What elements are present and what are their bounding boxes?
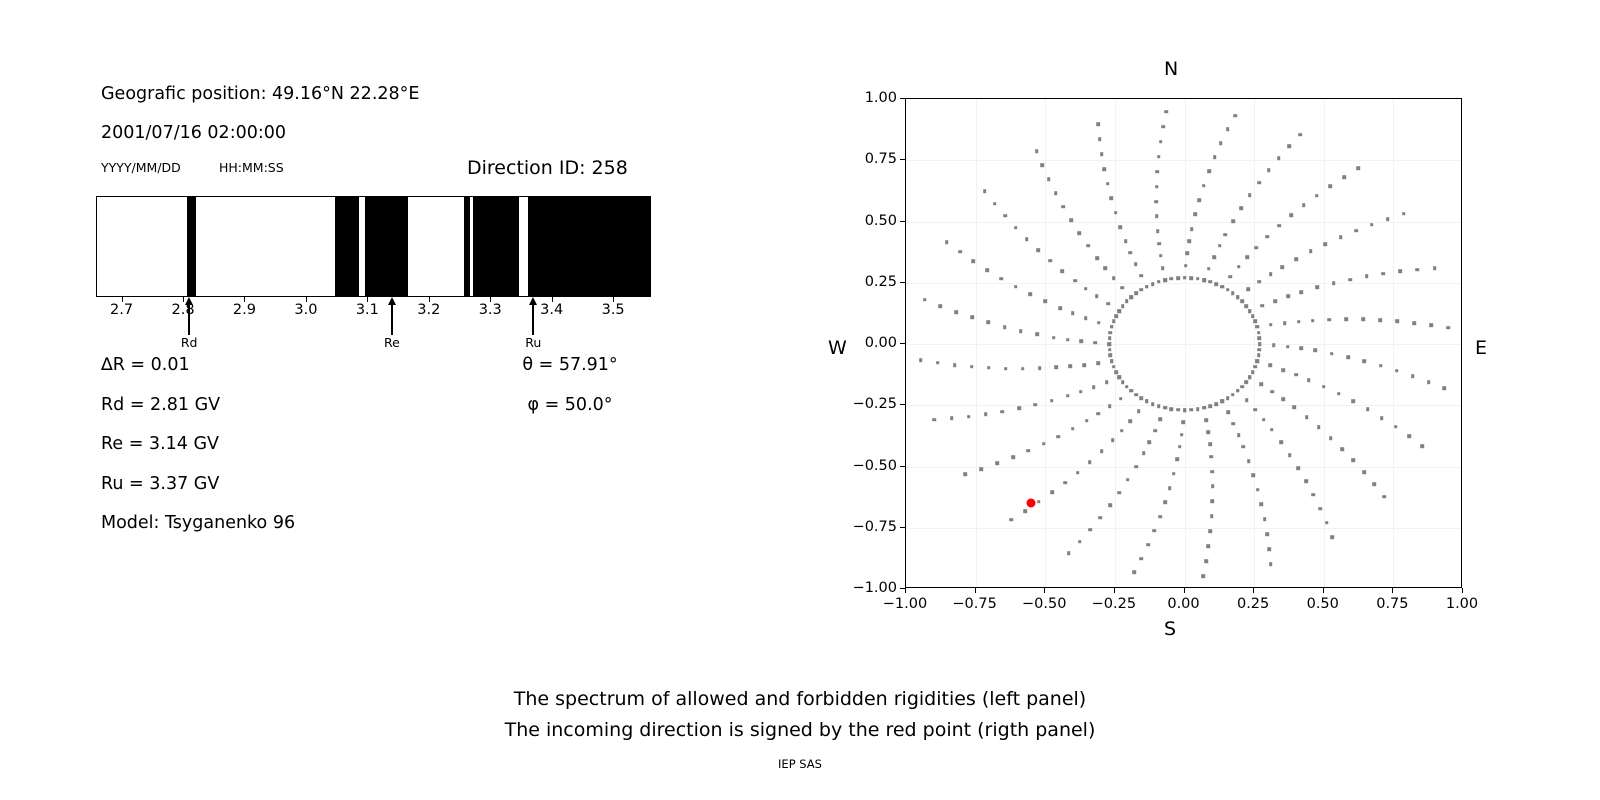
- direction-grid-point: [1396, 320, 1400, 324]
- direction-grid-point: [1261, 304, 1265, 308]
- direction-grid-point: [1248, 194, 1252, 198]
- rigidity-tick-label: 3.2: [417, 302, 440, 318]
- direction-map-panel: N E S W −1.00−0.75−0.50−0.250.000.250.50…: [820, 40, 1520, 660]
- direction-grid-point: [1176, 276, 1180, 280]
- direction-grid-point: [1157, 242, 1161, 246]
- direction-grid-point: [1175, 457, 1179, 461]
- direction-grid-point: [1263, 517, 1267, 521]
- direction-grid-point: [1003, 214, 1007, 218]
- direction-grid-point: [945, 240, 949, 244]
- y-axis-tick-label: −0.75: [841, 519, 897, 535]
- direction-grid-point: [1257, 331, 1261, 335]
- direction-grid-point: [1362, 470, 1366, 474]
- direction-grid-point: [1208, 280, 1212, 284]
- direction-grid-point: [1302, 203, 1306, 207]
- param-delta-r: ∆R = 0.01: [101, 355, 190, 375]
- direction-grid-point: [1117, 491, 1121, 495]
- direction-grid-point: [1161, 125, 1165, 129]
- gridline-horizontal: [906, 160, 1461, 161]
- direction-grid-point: [1218, 244, 1222, 248]
- compass-south-label: S: [1164, 618, 1176, 640]
- direction-grid-point: [1280, 266, 1284, 270]
- y-axis-tick-label: −0.50: [841, 458, 897, 474]
- direction-grid-point: [1082, 363, 1086, 367]
- gridline-vertical: [1393, 99, 1394, 587]
- forbidden-band: [464, 197, 470, 296]
- direction-grid-point: [1399, 270, 1403, 274]
- direction-grid-point: [1362, 318, 1366, 322]
- direction-grid-point: [1394, 425, 1398, 429]
- direction-grid-point: [1066, 338, 1070, 342]
- direction-grid-point: [1079, 390, 1083, 394]
- direction-grid-point: [1110, 359, 1114, 363]
- direction-grid-point: [1258, 280, 1262, 284]
- direction-grid-point: [1119, 397, 1123, 401]
- direction-grid-point: [1226, 288, 1230, 292]
- direction-grid-point: [1208, 404, 1212, 408]
- direction-grid-point: [1066, 394, 1070, 398]
- direction-grid-point: [1092, 385, 1096, 389]
- direction-grid-point: [1011, 456, 1015, 460]
- direction-grid-point: [933, 418, 937, 422]
- direction-grid-point: [1316, 286, 1320, 290]
- direction-grid-point: [1213, 155, 1217, 159]
- x-axis-tick: [975, 588, 976, 593]
- direction-grid-point: [1017, 407, 1021, 411]
- direction-grid-point: [1214, 282, 1218, 286]
- caption-line-2: The incoming direction is signed by the …: [0, 719, 1600, 741]
- direction-grid-point: [1028, 292, 1032, 296]
- direction-grid-point: [1210, 515, 1214, 519]
- direction-grid-point: [1097, 122, 1101, 126]
- direction-grid-point: [1286, 295, 1290, 299]
- gridline-vertical: [1115, 99, 1116, 587]
- gridline-horizontal: [906, 467, 1461, 468]
- direction-grid-point: [1156, 229, 1160, 233]
- direction-grid-point: [1134, 292, 1138, 296]
- direction-grid-point: [1108, 348, 1112, 352]
- direction-grid-point: [1111, 439, 1115, 443]
- direction-grid-point: [1061, 269, 1065, 273]
- direction-grid-point: [1207, 430, 1211, 434]
- rigidity-tick-label: 3.3: [479, 302, 502, 318]
- rigidity-tick-label: 3.4: [540, 302, 563, 318]
- direction-grid-point: [1269, 273, 1273, 277]
- direction-grid-point: [1231, 292, 1235, 296]
- direction-grid-point: [1108, 342, 1112, 346]
- rigidity-tick-label: 2.7: [110, 302, 133, 318]
- direction-grid-point: [1157, 404, 1161, 408]
- rigidity-marker-arrowhead: [185, 297, 193, 305]
- direction-grid-point: [1296, 466, 1300, 470]
- direction-grid-point: [1430, 323, 1434, 327]
- direction-grid-point: [1061, 205, 1065, 209]
- direction-grid-point: [1331, 535, 1335, 539]
- direction-grid-point: [1076, 471, 1080, 475]
- direction-grid-point: [1288, 145, 1292, 149]
- direction-grid-point: [1269, 562, 1273, 566]
- y-axis-tick-label: −0.25: [841, 396, 897, 412]
- x-axis-tick: [1114, 588, 1115, 593]
- direction-grid-point: [1286, 345, 1290, 349]
- direction-grid-point: [1115, 314, 1119, 318]
- direction-grid-point: [1159, 254, 1163, 258]
- param-theta: θ = 57.91°: [522, 355, 617, 375]
- param-phi: φ = 50.0°: [527, 395, 612, 415]
- direction-grid-point: [1151, 402, 1155, 406]
- direction-grid-point: [1259, 382, 1263, 386]
- direction-grid-point: [1163, 406, 1167, 410]
- direction-grid-point: [1105, 380, 1109, 384]
- gridline-horizontal: [906, 222, 1461, 223]
- direction-grid-point: [1153, 529, 1157, 533]
- y-axis-tick: [900, 98, 905, 99]
- datetime-label: 2001/07/16 02:00:00: [101, 123, 286, 143]
- direction-grid-point: [1247, 288, 1251, 292]
- direction-grid-point: [1104, 266, 1108, 270]
- direction-grid-point: [1158, 418, 1162, 422]
- rigidity-tick-label: 2.9: [233, 302, 256, 318]
- direction-grid-point: [1209, 529, 1213, 533]
- direction-grid-point: [1170, 407, 1174, 411]
- spectrum-bar-container: [96, 196, 651, 297]
- rigidity-marker-arrowhead: [388, 297, 396, 305]
- direction-grid-point: [1139, 274, 1143, 278]
- direction-grid-point: [1096, 361, 1100, 365]
- direction-grid-point: [1237, 265, 1241, 269]
- direction-grid-point: [1269, 323, 1273, 327]
- direction-grid-point: [993, 202, 997, 206]
- direction-grid-point: [1370, 223, 1374, 227]
- gridline-horizontal: [906, 528, 1461, 529]
- gridline-vertical: [976, 99, 977, 587]
- direction-grid-point: [1258, 348, 1262, 352]
- x-axis-tick: [1184, 588, 1185, 593]
- direction-grid-point: [939, 304, 943, 308]
- direction-grid-point: [1194, 213, 1198, 217]
- direction-grid-point: [1157, 280, 1161, 284]
- direction-grid-point: [1372, 482, 1376, 486]
- direction-grid-point: [1001, 410, 1005, 414]
- direction-grid-point: [919, 358, 923, 362]
- direction-grid-point: [1035, 333, 1039, 337]
- direction-grid-point: [1047, 178, 1051, 182]
- direction-grid-point: [1277, 157, 1281, 161]
- rigidity-tick-label: 3.1: [356, 302, 379, 318]
- direction-grid-point: [1224, 233, 1228, 237]
- y-axis-tick-label: 0.25: [841, 274, 897, 290]
- direction-grid-point: [1380, 416, 1384, 420]
- direction-grid-point: [1365, 275, 1369, 279]
- direction-grid-point: [1069, 218, 1073, 222]
- direction-grid-point: [1019, 329, 1023, 333]
- direction-grid-point: [1322, 385, 1326, 389]
- rigidity-marker-label: Re: [384, 335, 400, 350]
- direction-grid-point: [1038, 367, 1042, 371]
- direction-grid-point: [936, 361, 940, 365]
- x-axis-tick-label: −0.25: [1092, 596, 1136, 612]
- direction-grid-point: [1270, 390, 1274, 394]
- direction-grid-point: [1266, 235, 1270, 239]
- direction-grid-point: [970, 316, 974, 320]
- rigidity-marker-arrowhead: [529, 297, 537, 305]
- direction-grid-point: [1300, 347, 1304, 351]
- direction-grid-point: [1300, 290, 1304, 294]
- direction-grid-point: [1158, 515, 1162, 519]
- direction-grid-point: [1035, 149, 1039, 153]
- direction-grid-point: [1226, 396, 1230, 400]
- direction-grid-point: [1164, 110, 1168, 114]
- direction-grid-point: [1109, 331, 1113, 335]
- direction-grid-point: [1108, 503, 1112, 507]
- direction-grid-point: [1214, 402, 1218, 406]
- gridline-horizontal: [906, 405, 1461, 406]
- direction-grid-point: [1078, 540, 1082, 544]
- direction-grid-point: [1309, 250, 1313, 254]
- x-axis-tick-label: −0.75: [952, 596, 996, 612]
- x-axis-tick-label: 0.00: [1167, 596, 1199, 612]
- direction-grid-point: [1000, 277, 1004, 281]
- direction-grid-point: [1304, 479, 1308, 483]
- direction-grid-point: [1311, 493, 1315, 497]
- direction-grid-point: [1067, 551, 1071, 555]
- direction-grid-point: [1071, 427, 1075, 431]
- direction-grid-point: [1257, 354, 1261, 358]
- direction-grid-point: [1328, 318, 1332, 322]
- direction-grid-point: [1118, 225, 1122, 229]
- direction-grid-point: [1240, 300, 1244, 304]
- direction-grid-point: [1112, 320, 1116, 324]
- direction-grid-point: [1055, 366, 1059, 370]
- direction-grid-point: [1267, 547, 1271, 551]
- direction-grid-point: [1294, 373, 1298, 377]
- direction-grid-point: [1416, 268, 1420, 272]
- direction-grid-point: [950, 417, 954, 421]
- x-axis-tick: [1323, 588, 1324, 593]
- direction-grid-point: [1140, 396, 1144, 400]
- direction-grid-point: [1095, 295, 1099, 299]
- direction-grid-point: [1277, 224, 1281, 228]
- direction-grid-point: [1256, 488, 1260, 492]
- rigidity-marker-label: Ru: [525, 335, 541, 350]
- direction-grid-point: [1145, 399, 1149, 403]
- direction-grid-point: [1363, 359, 1367, 363]
- direction-grid-point: [1057, 435, 1061, 439]
- rigidity-axis: 2.72.82.93.03.13.23.33.43.5RdReRu: [96, 297, 651, 357]
- direction-grid-point: [1219, 141, 1223, 145]
- direction-grid-point: [1163, 501, 1167, 505]
- direction-grid-point: [1346, 355, 1350, 359]
- direction-grid-point: [1132, 571, 1136, 575]
- direction-grid-point: [1130, 295, 1134, 299]
- y-axis-tick-label: 0.50: [841, 213, 897, 229]
- direction-grid-point: [1205, 418, 1209, 422]
- direction-grid-point: [1115, 370, 1119, 374]
- direction-grid-point: [1281, 397, 1285, 401]
- direction-grid-point: [1118, 375, 1122, 379]
- direction-grid-point: [1003, 325, 1007, 329]
- x-axis-tick-label: −1.00: [883, 596, 927, 612]
- direction-grid-point: [1237, 433, 1241, 437]
- direction-grid-point: [1382, 495, 1386, 499]
- direction-grid-point: [1202, 278, 1206, 282]
- direction-grid-point: [1447, 326, 1451, 330]
- direction-grid-point: [1142, 452, 1146, 456]
- direction-grid-point: [1270, 428, 1274, 432]
- direction-grid-point: [1379, 318, 1383, 322]
- direction-grid-point: [1134, 262, 1138, 266]
- direction-grid-point: [1109, 354, 1113, 358]
- geographic-position-label: Geografic position: 49.16°N 22.28°E: [101, 84, 419, 104]
- direction-grid-point: [1098, 137, 1102, 141]
- gridline-vertical: [1324, 99, 1325, 587]
- direction-grid-point: [1442, 387, 1446, 391]
- param-ru: Ru = 3.37 GV: [101, 474, 219, 494]
- direction-grid-point: [1106, 302, 1110, 306]
- direction-grid-point: [1073, 279, 1077, 283]
- direction-grid-point: [1180, 433, 1184, 437]
- forbidden-band: [528, 197, 651, 296]
- direction-grid-point: [1402, 212, 1406, 216]
- direction-scatter-plot: [905, 98, 1462, 588]
- compass-north-label: N: [1164, 58, 1178, 80]
- direction-grid-point: [1096, 256, 1100, 260]
- direction-grid-point: [1329, 436, 1333, 440]
- rigidity-tick-label: 3.0: [294, 302, 317, 318]
- direction-grid-point: [1407, 434, 1411, 438]
- direction-grid-point: [1247, 459, 1251, 463]
- direction-grid-point: [1153, 429, 1157, 433]
- direction-grid-point: [1345, 318, 1349, 322]
- direction-grid-point: [1155, 185, 1159, 189]
- direction-grid-point: [1168, 486, 1172, 490]
- direction-grid-point: [1294, 257, 1298, 261]
- y-axis-tick: [900, 404, 905, 405]
- direction-grid-point: [1220, 285, 1224, 289]
- direction-grid-point: [1324, 242, 1328, 246]
- direction-grid-point: [1085, 419, 1089, 423]
- direction-grid-point: [1151, 282, 1155, 286]
- direction-grid-point: [1037, 500, 1041, 504]
- y-axis-tick: [900, 527, 905, 528]
- direction-grid-point: [1121, 380, 1125, 384]
- direction-grid-point: [1202, 184, 1206, 188]
- forbidden-band: [365, 197, 408, 296]
- direction-grid-point: [1183, 408, 1187, 412]
- direction-grid-point: [1188, 239, 1192, 243]
- param-model: Model: Tsyganenko 96: [101, 513, 295, 533]
- direction-grid-point: [1207, 170, 1211, 174]
- direction-grid-point: [1311, 319, 1315, 323]
- direction-grid-point: [1220, 399, 1224, 403]
- rigidity-marker-label: Rd: [181, 335, 198, 350]
- direction-grid-point: [1027, 449, 1031, 453]
- direction-grid-point: [1043, 299, 1047, 303]
- direction-grid-point: [1255, 359, 1259, 363]
- time-format-hint-label: HH:MM:SS: [219, 160, 284, 175]
- direction-grid-point: [1184, 264, 1188, 268]
- y-axis-tick: [900, 282, 905, 283]
- direction-grid-point: [1114, 211, 1118, 215]
- rigidity-tick-label: 3.5: [602, 302, 625, 318]
- x-axis-tick: [1462, 588, 1463, 593]
- direction-grid-point: [1245, 398, 1249, 402]
- direction-grid-point: [1236, 389, 1240, 393]
- direction-grid-point: [1201, 574, 1205, 578]
- direction-grid-point: [1251, 370, 1255, 374]
- direction-grid-point: [1267, 169, 1271, 173]
- direction-grid-point: [1161, 266, 1165, 270]
- direction-grid-point: [1209, 455, 1213, 459]
- direction-grid-point: [1100, 152, 1104, 156]
- direction-grid-point: [958, 250, 962, 254]
- gridline-vertical: [1254, 99, 1255, 587]
- caption-line-1: The spectrum of allowed and forbidden ri…: [0, 688, 1600, 710]
- direction-grid-point: [1211, 500, 1215, 504]
- direction-grid-point: [1236, 295, 1240, 299]
- direction-grid-point: [1240, 385, 1244, 389]
- direction-grid-point: [1080, 340, 1084, 344]
- direction-grid-point: [1348, 278, 1352, 282]
- direction-grid-point: [1228, 275, 1232, 279]
- direction-grid-point: [1146, 543, 1150, 547]
- direction-grid-point: [1140, 557, 1144, 561]
- direction-grid-point: [1386, 217, 1390, 221]
- direction-grid-point: [1315, 194, 1319, 198]
- direction-grid-point: [1248, 375, 1252, 379]
- direction-grid-point: [1233, 114, 1237, 118]
- direction-grid-point: [1170, 277, 1174, 281]
- gridline-horizontal: [906, 283, 1461, 284]
- direction-grid-point: [1109, 197, 1113, 201]
- x-axis-tick-label: 0.25: [1237, 596, 1269, 612]
- direction-grid-point: [1226, 127, 1230, 131]
- direction-grid-point: [1042, 442, 1046, 446]
- direction-grid-point: [1356, 167, 1360, 171]
- direction-grid-point: [1288, 453, 1292, 457]
- direction-grid-point: [1379, 364, 1383, 368]
- y-axis-tick: [900, 159, 905, 160]
- direction-grid-point: [1130, 389, 1134, 393]
- direction-grid-point: [1208, 443, 1212, 447]
- direction-grid-point: [986, 321, 990, 325]
- direction-grid-point: [1328, 184, 1332, 188]
- gridline-horizontal: [906, 344, 1461, 345]
- direction-grid-point: [1232, 422, 1236, 426]
- direction-grid-point: [1021, 367, 1025, 371]
- direction-grid-point: [1034, 403, 1038, 407]
- direction-grid-point: [923, 298, 927, 302]
- direction-grid-point: [1110, 325, 1114, 329]
- direction-grid-point: [1112, 365, 1116, 369]
- direction-grid-point: [1351, 459, 1355, 463]
- direction-grid-point: [1189, 276, 1193, 280]
- forbidden-band: [473, 197, 519, 296]
- direction-grid-point: [1025, 237, 1029, 241]
- direction-grid-point: [1258, 336, 1262, 340]
- incoming-direction-point[interactable]: [1027, 499, 1036, 508]
- x-axis-tick-label: −0.50: [1022, 596, 1066, 612]
- direction-grid-point: [1134, 393, 1138, 397]
- direction-grid-point: [1063, 481, 1067, 485]
- direction-grid-point: [1292, 405, 1296, 409]
- direction-grid-point: [1129, 251, 1133, 255]
- direction-grid-point: [1332, 282, 1336, 286]
- direction-grid-point: [1207, 267, 1211, 271]
- direction-grid-point: [1058, 306, 1062, 310]
- direction-grid-point: [1273, 299, 1277, 303]
- direction-grid-point: [1242, 445, 1246, 449]
